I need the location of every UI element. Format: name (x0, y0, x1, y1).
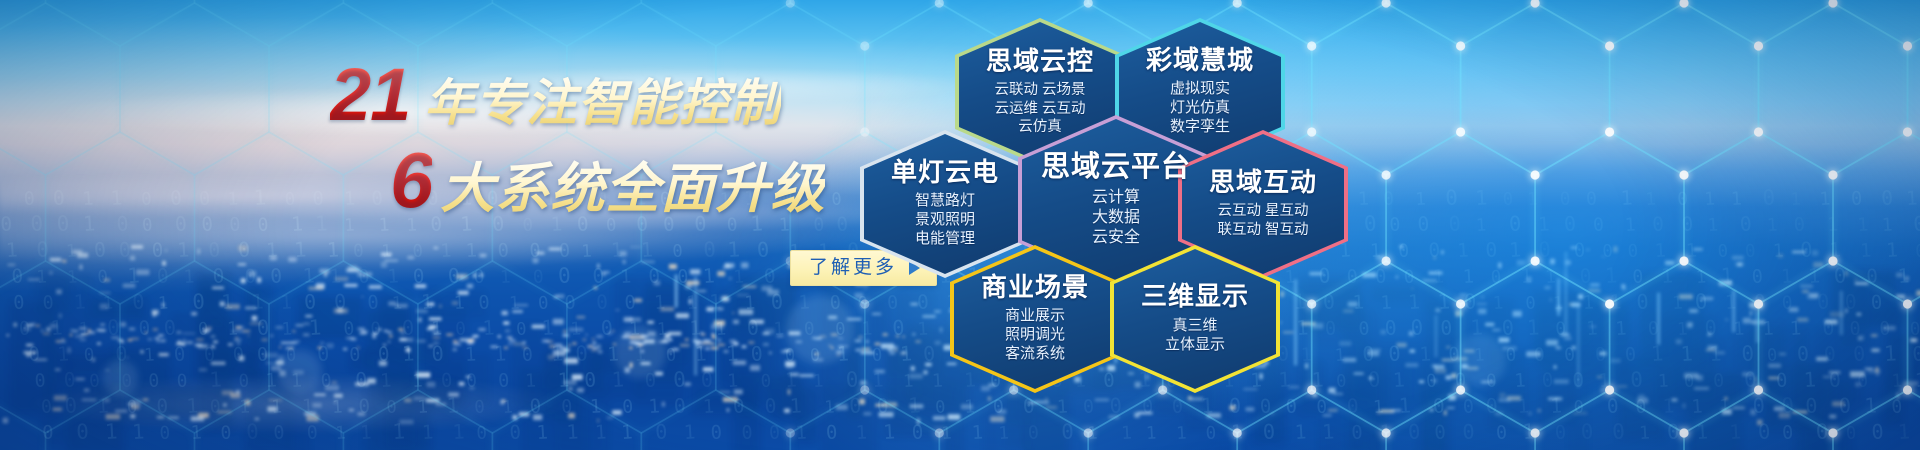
hexagon-subtitle: 云安全 (1041, 228, 1191, 248)
hexagon-cluster: 思域云控云联动 云场景云运维 云互动云仿真彩域慧城虚拟现实灯光仿真数字孪生单灯云… (960, 0, 1920, 450)
hexagon-subtitle: 立体显示 (1141, 336, 1249, 355)
hexagon-subtitle-list: 智慧路灯景观照明电能管理 (891, 192, 999, 249)
hexagon-subtitle-list: 云计算大数据云安全 (1041, 188, 1191, 248)
hexagon-title: 商业场景 (981, 274, 1089, 301)
hexagon-subtitle: 景观照明 (891, 211, 999, 230)
headline-text-1: 年专注智能控制 (424, 76, 781, 131)
headline-number-6: 6 (390, 143, 432, 217)
hexagon-subtitle: 云互动 星互动 (1209, 202, 1317, 220)
hexagon-title: 思域云控 (986, 48, 1094, 75)
hexagon-subtitle: 云运维 云互动 (986, 100, 1094, 118)
headline-line-2: 6 大系统全面升级 (390, 143, 800, 219)
hexagon-content: 商业场景商业展示照明调光客流系统 (975, 274, 1095, 364)
hexagon-content: 思域云平台云计算大数据云安全 (1035, 152, 1197, 249)
hexagon-subtitle: 联互动 智互动 (1209, 221, 1317, 239)
hexagon-content: 思域互动云互动 星互动联互动 智互动 (1203, 169, 1323, 239)
hexagon-subtitle: 电能管理 (891, 230, 999, 249)
hexagon-title: 思域互动 (1209, 169, 1317, 196)
hexagon-subtitle: 云计算 (1041, 188, 1191, 208)
hexagon-subtitle: 客流系统 (981, 345, 1089, 364)
hexagon-subtitle-list: 虚拟现实灯光仿真数字孪生 (1146, 80, 1254, 137)
promo-banner: 0001100011001010101101100110100010100110… (0, 0, 1920, 450)
hexagon-title: 彩域慧城 (1146, 47, 1254, 74)
hexagon-subtitle-list: 云互动 星互动联互动 智互动 (1209, 202, 1317, 239)
hexagon-subtitle: 数字孪生 (1146, 118, 1254, 137)
headline-line-1: 21 年专注智能控制 (330, 60, 800, 131)
hexagon-card-sanwei-xianshi[interactable]: 三维显示真三维立体显示 (1110, 245, 1280, 393)
hexagon-title: 思域云平台 (1041, 152, 1191, 182)
hexagon-subtitle: 云仿真 (986, 118, 1094, 136)
hexagon-subtitle-list: 云联动 云场景云运维 云互动云仿真 (986, 81, 1094, 136)
hexagon-content: 三维显示真三维立体显示 (1135, 283, 1255, 354)
hexagon-subtitle: 真三维 (1141, 317, 1249, 336)
hexagon-subtitle: 大数据 (1041, 208, 1191, 228)
hexagon-title: 单灯云电 (891, 159, 999, 186)
headline-block: 21 年专注智能控制 6 大系统全面升级 (330, 60, 800, 219)
hexagon-subtitle: 智慧路灯 (891, 192, 999, 211)
hexagon-title: 三维显示 (1141, 283, 1249, 310)
hexagon-subtitle-list: 商业展示照明调光客流系统 (981, 307, 1089, 364)
headline-number-21: 21 (330, 60, 410, 130)
hexagon-subtitle: 灯光仿真 (1146, 99, 1254, 118)
hexagon-subtitle: 虚拟现实 (1146, 80, 1254, 99)
hexagon-subtitle: 商业展示 (981, 307, 1089, 326)
hexagon-subtitle: 照明调光 (981, 326, 1089, 345)
hexagon-content: 彩域慧城虚拟现实灯光仿真数字孪生 (1140, 47, 1260, 137)
hexagon-card-shangye-changjing[interactable]: 商业场景商业展示照明调光客流系统 (950, 245, 1120, 393)
hexagon-subtitle: 云联动 云场景 (986, 81, 1094, 99)
headline-text-2: 大系统全面升级 (440, 160, 825, 219)
hexagon-content: 单灯云电智慧路灯景观照明电能管理 (885, 159, 1005, 249)
hexagon-content: 思域云控云联动 云场景云运维 云互动云仿真 (980, 48, 1100, 136)
hexagon-subtitle-list: 真三维立体显示 (1141, 317, 1249, 355)
